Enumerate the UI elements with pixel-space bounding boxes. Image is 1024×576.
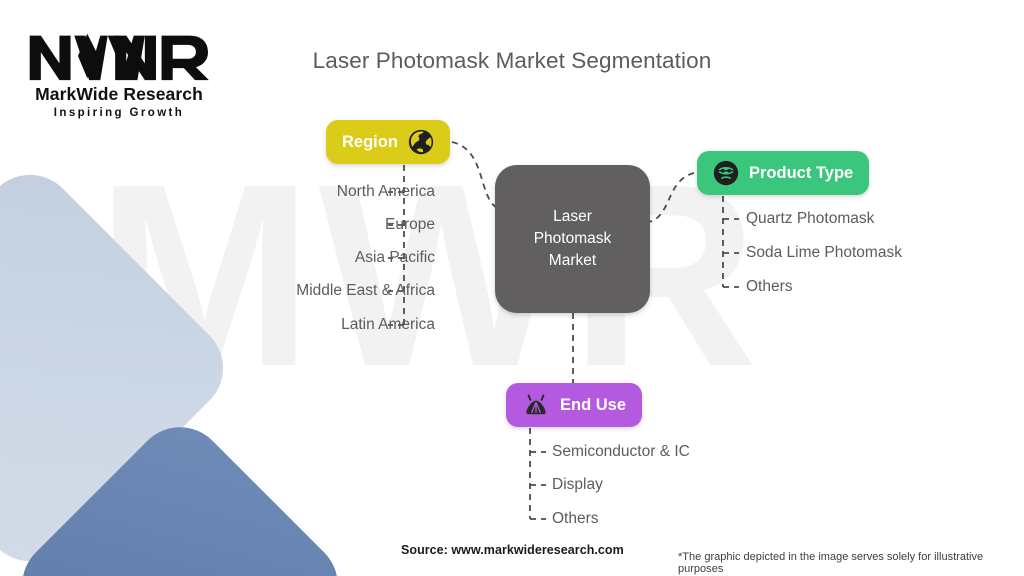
branch-badge-end-use-label: End Use xyxy=(560,396,626,415)
list-item[interactable]: Others xyxy=(552,510,599,528)
footer-disclaimer: *The graphic depicted in the image serve… xyxy=(678,551,1024,575)
list-item[interactable]: Others xyxy=(746,278,793,296)
globe-icon xyxy=(408,129,434,155)
list-item[interactable]: Quartz Photomask xyxy=(746,210,874,228)
list-item[interactable]: Soda Lime Photomask xyxy=(746,244,902,262)
branch-badge-region-label: Region xyxy=(342,133,398,152)
branch-badge-region[interactable]: Region xyxy=(326,120,450,164)
list-item[interactable]: Semiconductor & IC xyxy=(552,443,690,461)
center-node-label: Laser Photomask Market xyxy=(534,206,612,272)
footer-source[interactable]: Source: www.markwideresearch.com xyxy=(401,543,624,557)
list-item[interactable]: Asia Pacific xyxy=(355,249,435,267)
chip-dome-icon xyxy=(522,391,550,419)
list-item[interactable]: Europe xyxy=(385,216,435,234)
list-item[interactable]: Latin America xyxy=(341,316,435,334)
connector-product-to-center xyxy=(649,173,694,222)
center-node[interactable]: Laser Photomask Market xyxy=(495,165,650,313)
branch-badge-product-type[interactable]: Product Type xyxy=(697,151,869,195)
list-item[interactable]: Display xyxy=(552,476,603,494)
infographic-canvas: MWR MarkWide Research Inspiring Growth L… xyxy=(0,0,1024,576)
photomask-face-icon xyxy=(713,160,739,186)
list-item[interactable]: North America xyxy=(337,183,435,201)
connector-region-to-center xyxy=(452,142,497,208)
list-item[interactable]: Middle East & Africa xyxy=(296,282,435,300)
branch-badge-product-type-label: Product Type xyxy=(749,164,853,183)
branch-badge-end-use[interactable]: End Use xyxy=(506,383,642,427)
